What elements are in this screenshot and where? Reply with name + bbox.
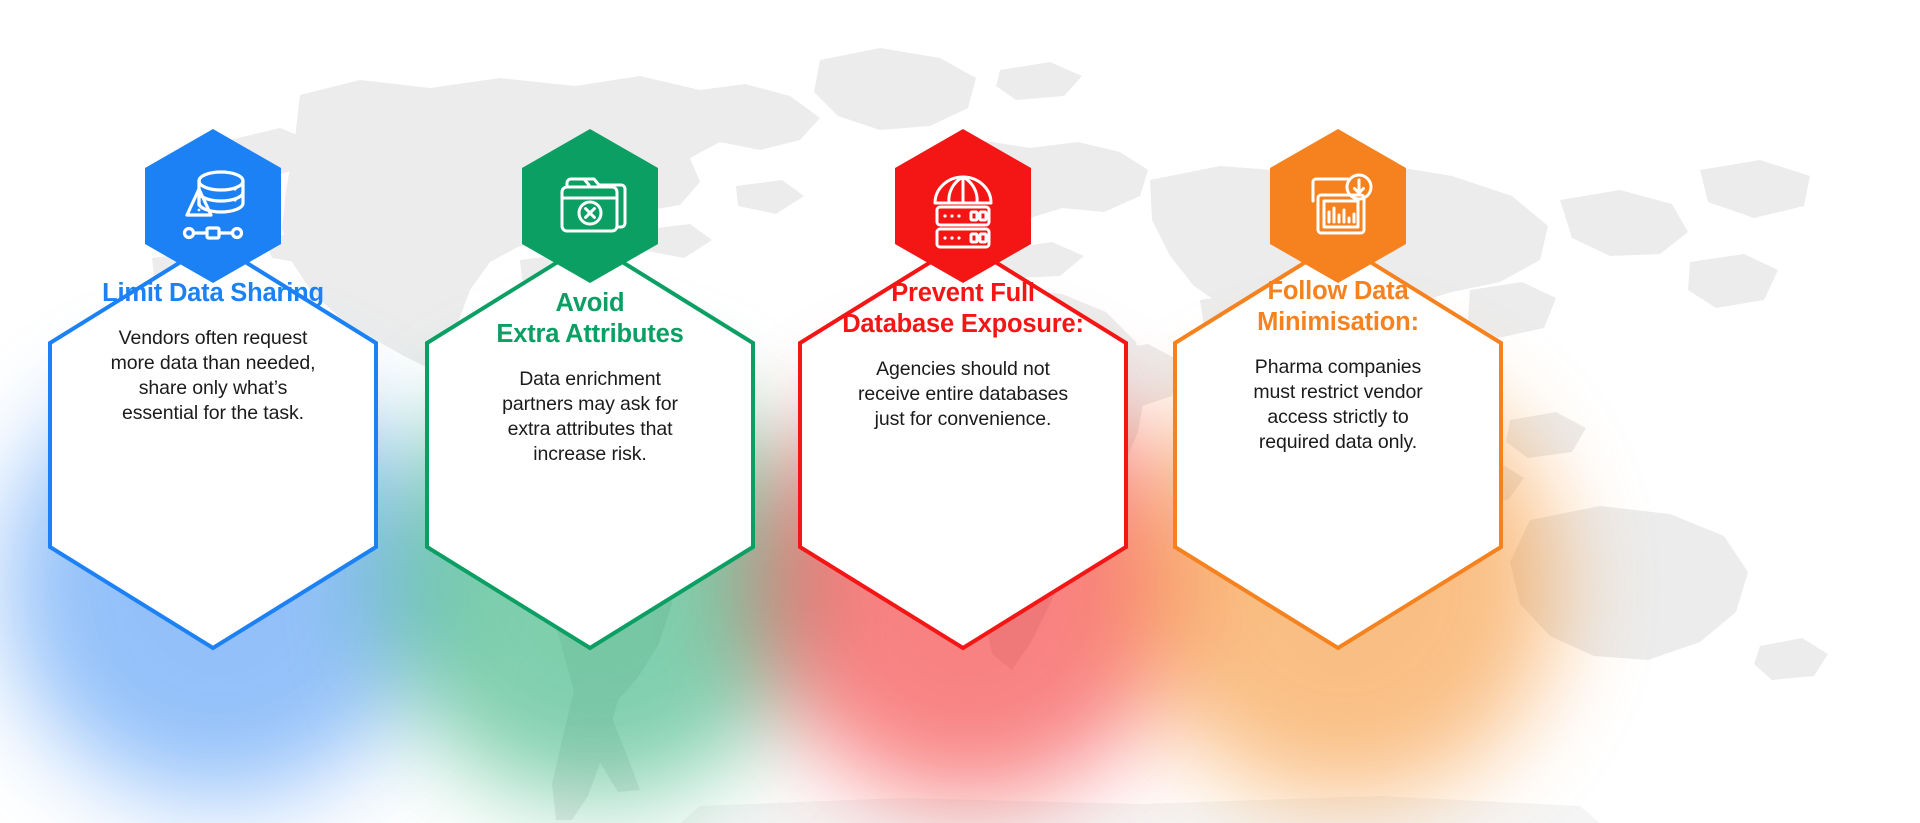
card-title: Follow Data Minimisation: xyxy=(1189,276,1487,338)
card-body: Pharma companies must restrict vendor ac… xyxy=(1189,355,1487,456)
card-body: Vendors often request more data than nee… xyxy=(64,326,362,427)
card-title: Limit Data Sharing xyxy=(64,278,362,309)
text-block-card-1: Avoid Extra Attributes Data enrichment p… xyxy=(425,288,755,467)
text-block-card-2: Prevent Full Database Exposure: Agencies… xyxy=(798,278,1128,432)
badge-card-1 xyxy=(520,127,660,285)
card-avoid-extra-attributes[interactable]: Avoid Extra Attributes Data enrichment p… xyxy=(425,240,755,650)
card-prevent-full-database-exposure[interactable]: Prevent Full Database Exposure: Agencies… xyxy=(798,240,1128,650)
text-block-card-0: Limit Data Sharing Vendors often request… xyxy=(48,278,378,426)
card-body: Data enrichment partners may ask for ext… xyxy=(441,367,739,468)
card-follow-data-minimisation[interactable]: Follow Data Minimisation: Pharma compani… xyxy=(1173,240,1503,650)
badge-card-2 xyxy=(893,127,1033,285)
card-body: Agencies should not receive entire datab… xyxy=(814,357,1112,432)
text-block-card-3: Follow Data Minimisation: Pharma compani… xyxy=(1173,276,1503,455)
card-title: Avoid Extra Attributes xyxy=(441,288,739,350)
card-title: Prevent Full Database Exposure: xyxy=(814,278,1112,340)
badge-card-3 xyxy=(1268,127,1408,285)
badge-card-0 xyxy=(143,127,283,285)
infographic-canvas: Limit Data Sharing Vendors often request… xyxy=(0,0,1920,823)
card-limit-data-sharing[interactable]: Limit Data Sharing Vendors often request… xyxy=(48,240,378,650)
